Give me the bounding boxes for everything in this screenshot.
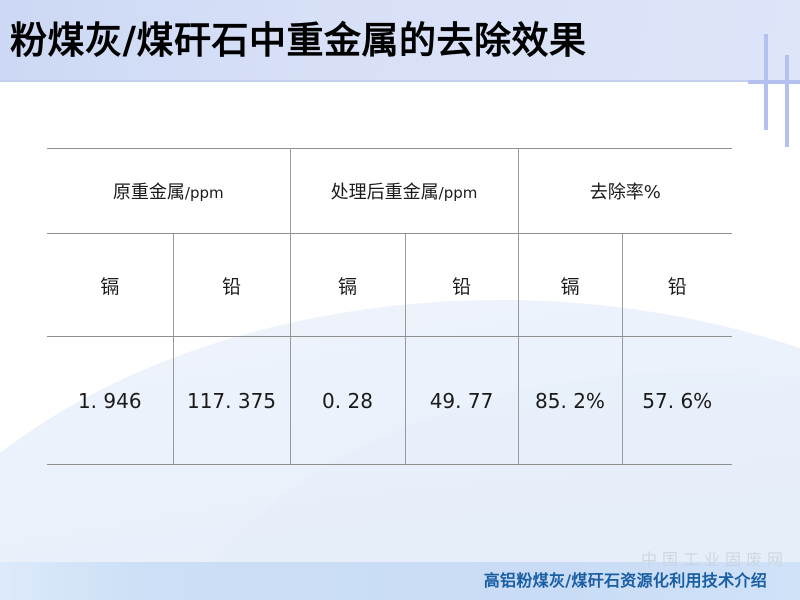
group-header-removal-rate: 去除率% xyxy=(518,149,732,234)
slide-canvas: 粉煤灰/煤矸石中重金属的去除效果 原重金属/ppm 处理后重金属/ppm 去除率… xyxy=(0,0,800,600)
group-header-removal-rate-label: 去除率% xyxy=(590,182,661,203)
table-sub-header-row: 镉 铅 镉 铅 镉 铅 xyxy=(47,234,732,337)
group-header-original-unit: /ppm xyxy=(185,184,224,202)
decorative-vertical-line-right xyxy=(785,55,789,147)
cell-cadmium-removal-rate: 85. 2% xyxy=(518,337,622,465)
sub-header-cadmium-treated: 镉 xyxy=(290,234,405,337)
sub-header-cadmium-rate: 镉 xyxy=(518,234,622,337)
group-header-original-label: 原重金属 xyxy=(113,182,185,203)
sub-header-lead-original: 铅 xyxy=(173,234,290,337)
sub-header-cadmium-original: 镉 xyxy=(47,234,173,337)
cell-cadmium-treated: 0. 28 xyxy=(290,337,405,465)
group-header-treated-unit: /ppm xyxy=(439,184,478,202)
cell-cadmium-original: 1. 946 xyxy=(47,337,173,465)
sub-header-lead-rate: 铅 xyxy=(622,234,732,337)
table-row: 1. 946 117. 375 0. 28 49. 77 85. 2% 57. … xyxy=(47,337,732,465)
group-header-treated-label: 处理后重金属 xyxy=(331,182,439,203)
group-header-treated: 处理后重金属/ppm xyxy=(290,149,518,234)
decorative-horizontal-line xyxy=(748,80,800,84)
footer-title: 高铝粉煤灰/煤矸石资源化利用技术介绍 xyxy=(484,567,767,591)
heavy-metal-removal-table: 原重金属/ppm 处理后重金属/ppm 去除率% 镉 铅 镉 铅 镉 铅 1. … xyxy=(47,148,732,465)
sub-header-lead-treated: 铅 xyxy=(405,234,518,337)
group-header-original: 原重金属/ppm xyxy=(47,149,290,234)
cell-lead-treated: 49. 77 xyxy=(405,337,518,465)
table-group-header-row: 原重金属/ppm 处理后重金属/ppm 去除率% xyxy=(47,149,732,234)
cell-lead-original: 117. 375 xyxy=(173,337,290,465)
cell-lead-removal-rate: 57. 6% xyxy=(622,337,732,465)
slide-title: 粉煤灰/煤矸石中重金属的去除效果 xyxy=(10,13,740,69)
